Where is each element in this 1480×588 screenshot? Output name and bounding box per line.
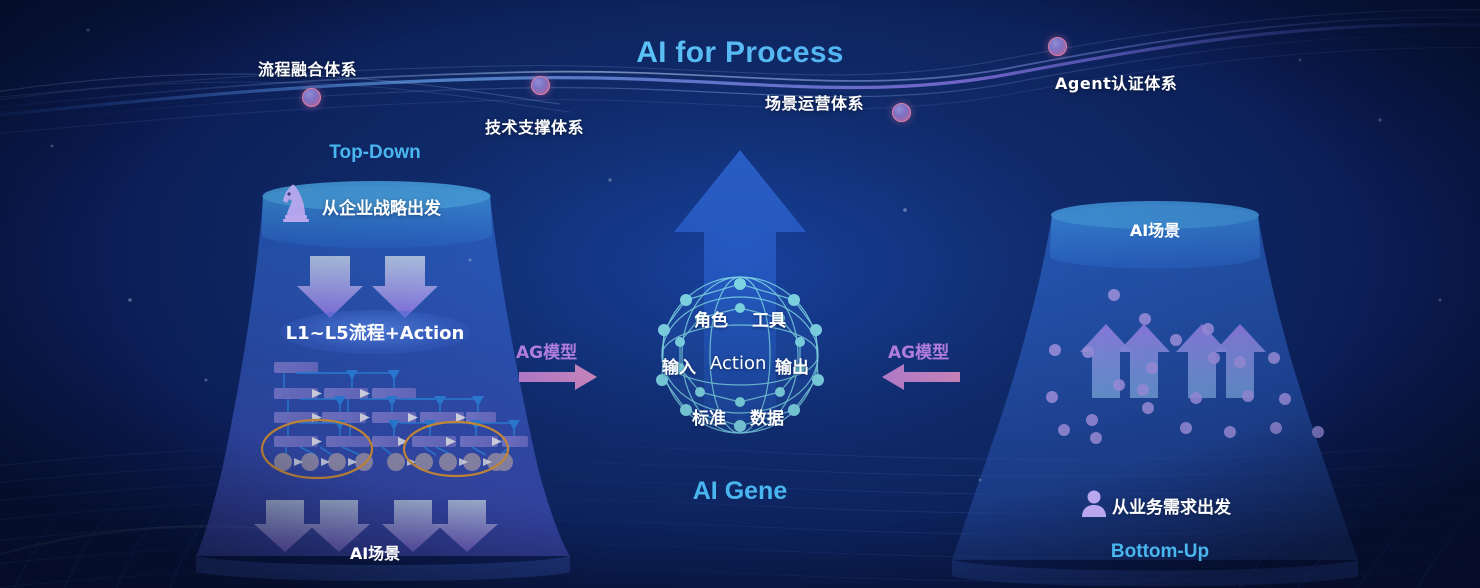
left-funnel-top-label: 从企业战略出发 (322, 194, 441, 219)
particle-dots (1046, 289, 1324, 444)
right-funnel-top-label: AI场景 (1085, 217, 1225, 241)
highlight-ring (262, 420, 508, 478)
top-down-heading: Top-Down (300, 142, 450, 164)
ag-arrow-right (519, 364, 597, 390)
sphere-label-role: 角色 (694, 306, 728, 331)
wave-label-3: 场景运营体系 (765, 90, 864, 114)
ag-arrow-left (882, 364, 960, 390)
left-funnel-bottom-label: AI场景 (300, 540, 450, 564)
wave-node-1 (302, 88, 321, 107)
left-funnel-shape (196, 181, 570, 581)
chess-knight-icon (278, 182, 312, 227)
wave-node-3 (892, 103, 911, 122)
sphere-label-tool: 工具 (752, 306, 786, 331)
sphere-label-output: 输出 (775, 353, 809, 378)
wave-label-4: Agent认证体系 (1055, 70, 1177, 94)
wave-node-4 (1048, 37, 1067, 56)
l1-l5-process-pill: L1~L5流程+Action (280, 310, 470, 354)
sphere-label-data: 数据 (750, 404, 784, 429)
ai-gene-heading: AI Gene (640, 477, 840, 506)
sphere-label-action: Action (710, 353, 766, 374)
ambient-sparkles (51, 28, 1442, 521)
infographic-canvas: AI for Process 流程融合体系 技术支撑体系 场景运营体系 Agen… (0, 0, 1480, 588)
wave-label-1: 流程融合体系 (258, 56, 357, 80)
down-arrow-icon-group-top (297, 256, 438, 318)
ag-model-left: AG模型 (888, 338, 949, 363)
sphere-label-input: 输入 (662, 353, 696, 378)
right-funnel-shape (952, 201, 1358, 587)
ag-model-right: AG模型 (516, 338, 577, 363)
right-funnel-bottom-label: 从业务需求出发 (1112, 493, 1231, 518)
page-title: AI for Process (0, 36, 1480, 70)
sphere-label-standard: 标准 (692, 404, 726, 429)
ag-model-left-label: AG模型 (888, 338, 949, 363)
up-arrow-icon-group (1080, 324, 1266, 398)
wave-node-2 (531, 76, 550, 95)
wave-label-2: 技术支撑体系 (485, 114, 584, 138)
wave-ribbon-group (0, 10, 1480, 136)
person-icon (1080, 488, 1108, 523)
process-flow-tree (262, 362, 528, 478)
bottom-up-heading: Bottom-Up (1080, 541, 1240, 563)
up-arrow-icon (674, 150, 806, 420)
l1-l5-label: L1~L5流程+Action (286, 319, 465, 345)
ag-model-right-label: AG模型 (516, 338, 577, 363)
